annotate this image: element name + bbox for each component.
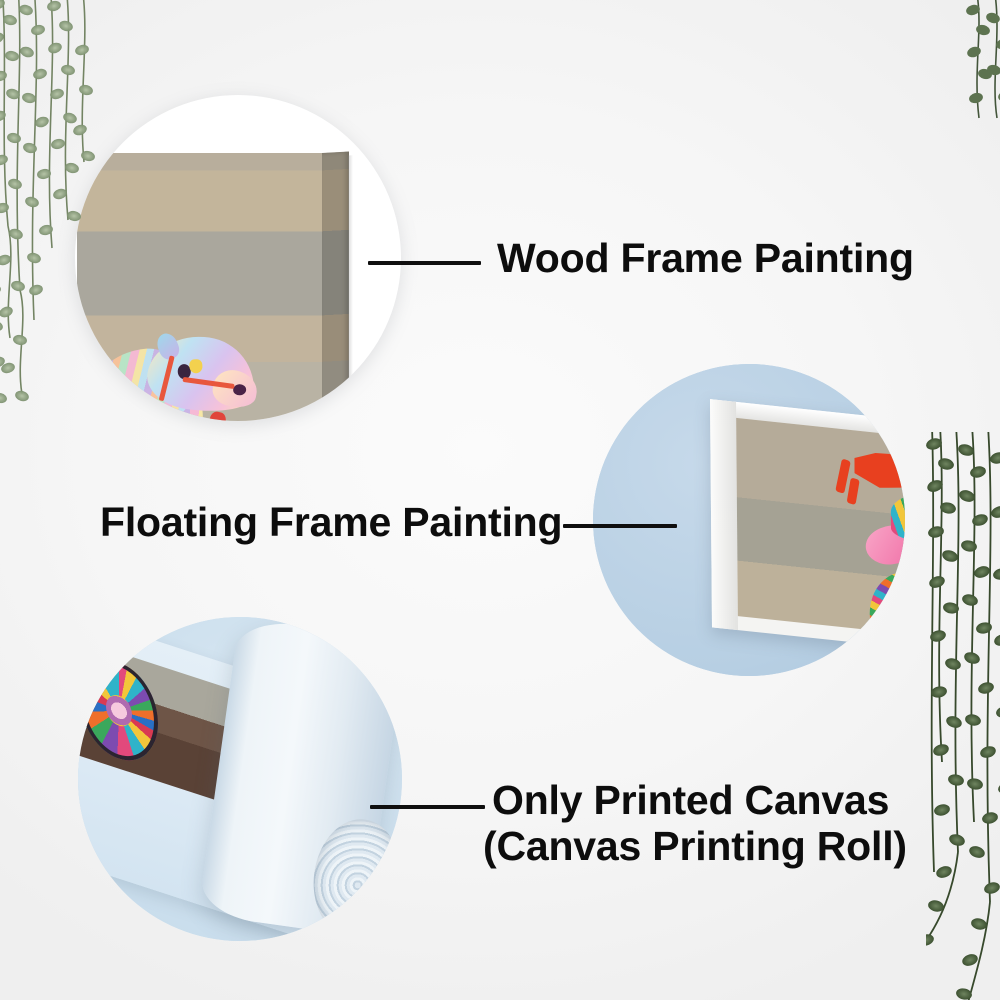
floating-frame-painting <box>710 399 905 657</box>
frame-left-bevel <box>710 399 738 630</box>
red-flag-artwork <box>854 448 905 498</box>
label-floating-frame-painting: Floating Frame Painting <box>100 500 562 546</box>
canvas-face-artwork <box>77 153 322 421</box>
leader-line-floating-frame <box>563 524 677 528</box>
medallion-printed-canvas-roll[interactable] <box>78 617 402 941</box>
leader-line-printed-canvas <box>370 805 485 809</box>
popart-horse-artwork <box>83 325 261 421</box>
wood-frame-canvas <box>77 153 349 421</box>
infographic-canvas: Wood Frame Painting Floating Frame Pain <box>0 0 1000 1000</box>
floating-frame-artwork <box>736 418 905 647</box>
leader-line-wood-frame <box>368 261 481 265</box>
wagon-wheel <box>80 650 158 771</box>
label-printed-canvas-line1: Only Printed Canvas <box>492 777 889 823</box>
label-printed-canvas-roll: Only Printed Canvas (Canvas Printing Rol… <box>492 778 907 870</box>
medallion-floating-frame[interactable] <box>593 364 905 676</box>
label-wood-frame-painting: Wood Frame Painting <box>497 236 914 282</box>
canvas-wrapped-edge <box>322 151 349 421</box>
label-printed-canvas-line2: (Canvas Printing Roll) <box>483 824 907 870</box>
medallion-wood-frame[interactable] <box>75 95 401 421</box>
